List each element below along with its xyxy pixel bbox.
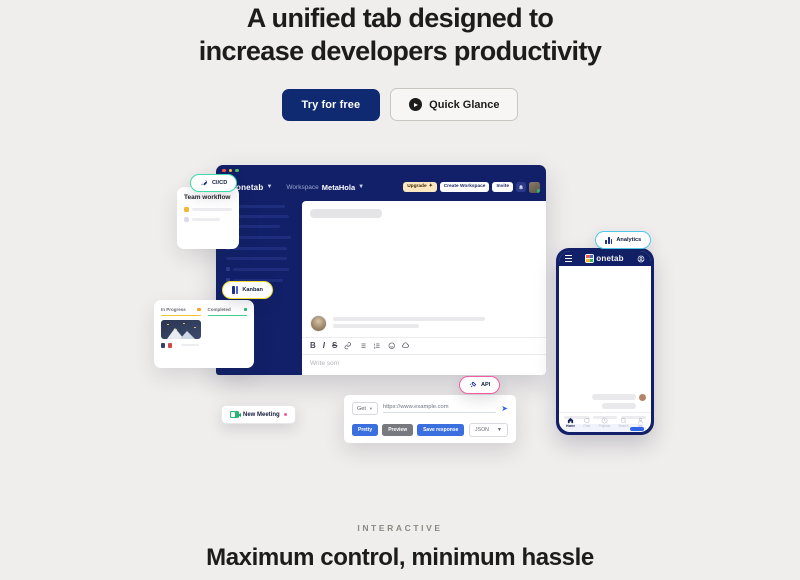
badge-api[interactable]: API <box>459 376 500 394</box>
content-placeholder <box>310 209 382 218</box>
phone-nav-label: Projects <box>599 425 611 428</box>
team-workflow-title: Team workflow <box>184 194 232 201</box>
kanban-column-header: In Progress <box>161 307 201 315</box>
composer-placeholder[interactable]: Write som <box>302 355 546 375</box>
kanban-column-title: Completed <box>208 307 231 312</box>
workflow-item[interactable] <box>184 207 232 212</box>
video-camera-icon <box>230 411 239 418</box>
text-placeholder <box>592 394 636 400</box>
http-method-value: Get <box>357 406 366 412</box>
emoji-icon[interactable] <box>388 342 396 350</box>
sidebar-placeholder <box>226 257 287 260</box>
italic-button[interactable]: I <box>323 342 325 350</box>
product-mockup-stage: onetab ▼ Workspace MetaHola ▼ Upgrade ✦ … <box>0 140 800 470</box>
kanban-card-image <box>161 320 201 339</box>
badge-label: Analytics <box>616 237 641 243</box>
kanban-column-completed: Completed <box>208 307 248 348</box>
status-swatch-icon <box>244 308 248 312</box>
onetab-logo-icon <box>585 254 594 263</box>
phone-mockup: onetab <box>556 248 654 435</box>
send-request-icon[interactable]: ➤ <box>501 405 508 413</box>
kanban-column-header: Completed <box>208 307 248 315</box>
pdf-icon <box>168 343 172 348</box>
chevron-down-icon: ▼ <box>266 184 272 190</box>
browser-window-mockup: onetab ▼ Workspace MetaHola ▼ Upgrade ✦ … <box>216 165 546 375</box>
team-workflow-card: Team workflow <box>177 187 239 249</box>
badge-cicd[interactable]: CI/CD <box>190 174 237 192</box>
avatar <box>639 394 646 401</box>
badge-label: Kanban <box>242 287 263 293</box>
section-heading: Maximum control, minimum hassle <box>0 544 800 572</box>
phone-nav-home[interactable]: Home <box>566 417 575 428</box>
file-icon <box>161 343 165 348</box>
section-eyebrow: INTERACTIVE <box>0 523 800 533</box>
response-format-select[interactable]: JSON ▼ <box>469 423 508 437</box>
api-request-row: Get ▼ https://www.example.com ➤ <box>352 402 508 415</box>
cta-row: Try for free Quick Glance <box>0 88 800 121</box>
app-main-content: B I S <box>302 201 546 375</box>
brand-name: onetab <box>236 183 263 192</box>
link-icon[interactable] <box>344 342 352 350</box>
pretty-button[interactable]: Pretty <box>352 424 378 436</box>
cloud-upload-icon[interactable] <box>402 342 410 350</box>
response-format-value: JSON <box>475 427 489 433</box>
hamburger-menu-icon[interactable] <box>565 255 572 262</box>
kanban-columns-icon <box>232 286 238 294</box>
status-swatch-icon <box>184 207 189 212</box>
phone-screen: onetab <box>559 251 651 432</box>
workspace-label: Workspace <box>286 184 318 191</box>
chevron-down-icon: ▼ <box>369 406 373 411</box>
window-close-dot[interactable] <box>222 169 226 173</box>
sparkle-icon: ✦ <box>429 185 433 190</box>
upgrade-label: Upgrade <box>407 185 426 190</box>
badge-kanban[interactable]: Kanban <box>222 281 273 299</box>
text-placeholder <box>333 317 485 321</box>
badge-label: CI/CD <box>212 180 227 186</box>
browser-titlebar <box>216 165 546 176</box>
chevron-down-icon: ▼ <box>497 427 502 433</box>
stars-decoration-icon <box>161 320 201 339</box>
hero-section: A unified tab designed to increase devel… <box>0 0 800 121</box>
composer-header <box>302 315 546 337</box>
notifications-icon[interactable] <box>516 182 526 192</box>
plug-icon <box>469 381 477 389</box>
api-response-actions: Pretty Preview Save response JSON ▼ <box>352 423 508 437</box>
strikethrough-button[interactable]: S <box>332 342 337 350</box>
workspace-switcher[interactable]: Workspace MetaHola ▼ <box>286 183 364 192</box>
notification-dot-icon <box>284 413 287 416</box>
status-swatch-icon <box>197 308 201 312</box>
new-meeting-label: New Meeting <box>243 412 280 418</box>
phone-bottom-nav: Home Chat Projects Search <box>559 412 651 432</box>
phone-nav-label: Chat <box>583 425 590 428</box>
kanban-column-in-progress: In Progress <box>161 307 201 348</box>
avatar <box>310 315 327 332</box>
page-title-line-2: increase developers productivity <box>0 35 800 68</box>
comment-composer: B I S <box>302 315 546 375</box>
phone-content: Home Chat Projects Search <box>559 266 651 432</box>
page-title: A unified tab designed to increase devel… <box>0 2 800 68</box>
chevron-down-icon: ▼ <box>358 184 364 190</box>
divider <box>161 315 201 316</box>
phone-nav-label: Me <box>638 425 642 428</box>
brand-name: onetab <box>596 254 623 263</box>
kanban-card: In Progress <box>154 300 254 368</box>
divider <box>208 315 248 316</box>
landing-page: A unified tab designed to increase devel… <box>0 0 800 580</box>
avatar[interactable] <box>529 182 540 193</box>
preview-button[interactable]: Preview <box>382 424 413 436</box>
editor-toolbar: B I S <box>302 337 546 355</box>
quick-glance-label: Quick Glance <box>429 99 499 111</box>
create-workspace-button[interactable]: Create Workspace <box>440 182 490 192</box>
sidebar-item[interactable] <box>226 267 295 271</box>
new-meeting-button[interactable]: New Meeting <box>221 405 296 424</box>
play-icon <box>409 98 422 111</box>
upgrade-button[interactable]: Upgrade ✦ <box>403 182 437 192</box>
window-maximize-dot[interactable] <box>235 169 239 173</box>
rocket-icon <box>200 179 208 187</box>
phone-nav-search[interactable]: Search <box>618 417 628 428</box>
bold-button[interactable]: B <box>310 342 316 350</box>
phone-nav-label: Search <box>618 425 628 428</box>
kanban-card-meta <box>161 343 201 348</box>
phone-nav-label: Home <box>566 425 575 428</box>
api-request-panel: Get ▼ https://www.example.com ➤ Pretty P… <box>344 395 516 443</box>
interactive-section: INTERACTIVE Maximum control, minimum has… <box>0 523 800 580</box>
phone-nav-me[interactable]: Me <box>637 417 644 428</box>
api-url-input[interactable]: https://www.example.com <box>383 404 496 413</box>
try-for-free-button[interactable]: Try for free <box>282 89 381 121</box>
phone-nav-projects[interactable]: Projects <box>599 417 611 428</box>
text-placeholder <box>333 324 419 328</box>
kanban-column-title: In Progress <box>161 307 186 312</box>
status-swatch-icon <box>184 217 189 222</box>
page-title-line-1: A unified tab designed to <box>0 2 800 35</box>
bar-chart-icon <box>605 236 612 244</box>
save-response-button[interactable]: Save response <box>417 424 464 436</box>
bulleted-list-icon[interactable] <box>359 342 367 350</box>
numbered-list-icon[interactable] <box>373 342 381 350</box>
phone-nav-chat[interactable]: Chat <box>583 417 590 428</box>
badge-analytics[interactable]: Analytics <box>595 231 651 249</box>
topbar-actions: Upgrade ✦ Create Workspace Invite <box>403 182 540 193</box>
phone-logo[interactable]: onetab <box>585 254 623 263</box>
workflow-item[interactable] <box>184 217 232 222</box>
phone-topbar: onetab <box>559 251 651 266</box>
badge-label: API <box>481 382 490 388</box>
text-placeholder <box>181 344 199 346</box>
invite-button[interactable]: Invite <box>492 182 513 192</box>
text-placeholder <box>602 403 636 409</box>
quick-glance-button[interactable]: Quick Glance <box>390 88 518 121</box>
app-topbar: onetab ▼ Workspace MetaHola ▼ Upgrade ✦ … <box>216 176 546 198</box>
kanban-columns: In Progress <box>161 307 247 348</box>
http-method-select[interactable]: Get ▼ <box>352 402 378 415</box>
workspace-name: MetaHola <box>322 183 355 192</box>
message-bubble <box>592 394 646 409</box>
window-minimize-dot[interactable] <box>229 169 233 173</box>
